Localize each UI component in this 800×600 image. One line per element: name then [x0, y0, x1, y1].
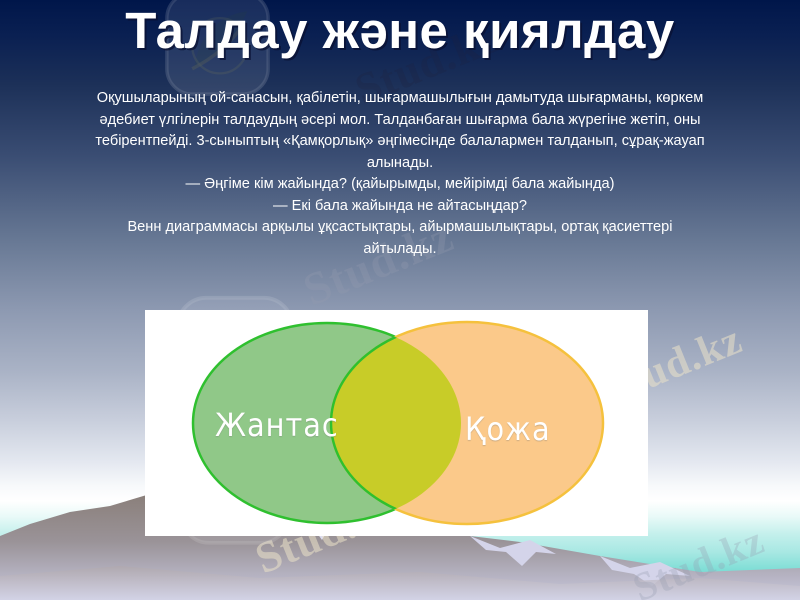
slide-body-text: Оқушыларының ой-санасын, қабілетін, шыға… [40, 88, 760, 260]
body-line: — Әңгіме кім жайында? (қайырымды, мейірі… [40, 174, 760, 196]
slide-title: Талдау және қиялдау [0, 2, 800, 61]
body-line: Оқушыларының ой-санасын, қабілетін, шыға… [40, 88, 760, 110]
venn-label-left: Жантас [215, 406, 339, 444]
body-line: тебірентпейді. 3-сыныптың «Қамқорлық» әң… [40, 131, 760, 153]
venn-diagram-panel: Жантас Қожа [145, 310, 648, 536]
body-line: — Екі бала жайында не айтасыңдар? [40, 196, 760, 218]
venn-label-right: Қожа [465, 410, 551, 448]
presentation-slide: Stud.kz Stud.kz Stud.kz – Stud.kz Stud.k… [0, 0, 800, 600]
body-line: Венн диаграммасы арқылы ұқсастықтары, ай… [40, 217, 760, 239]
body-line: әдебиет үлгілерін талдаудың әсері мол. Т… [40, 110, 760, 132]
body-line: айтылады. [40, 239, 760, 261]
body-line: алынады. [40, 153, 760, 175]
